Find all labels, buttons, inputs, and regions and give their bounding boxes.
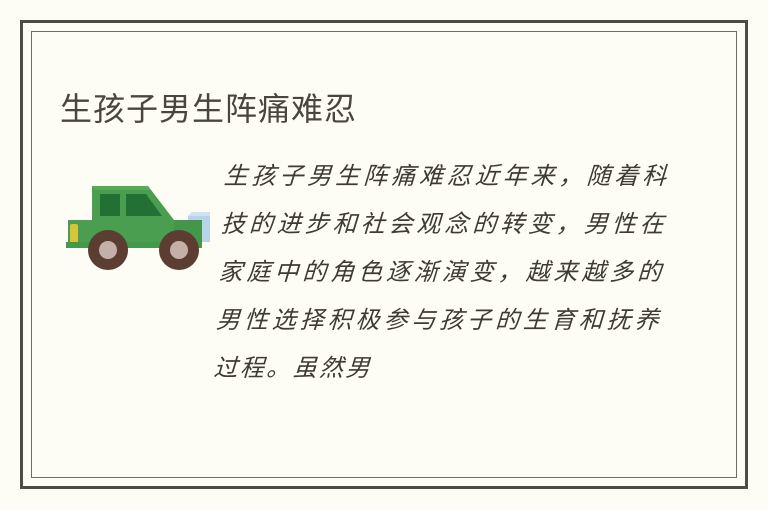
front-wheel xyxy=(88,230,128,270)
page-title: 生孩子男生阵痛难忍 xyxy=(60,89,357,129)
article-thumbnail xyxy=(62,170,222,278)
rear-wheel xyxy=(159,230,199,270)
article-body-text: 生孩子男生阵痛难忍近年来，随着科技的进步和社会观念的转变，男性在家庭中的角色逐渐… xyxy=(210,152,670,432)
pickup-truck-icon xyxy=(62,170,222,278)
article-body-area: 生孩子男生阵痛难忍近年来，随着科技的进步和社会观念的转变，男性在家庭中的角色逐渐… xyxy=(32,152,736,432)
article-page: 生孩子男生阵痛难忍 xyxy=(0,0,768,510)
page-content: 生孩子男生阵痛难忍 xyxy=(32,32,736,477)
